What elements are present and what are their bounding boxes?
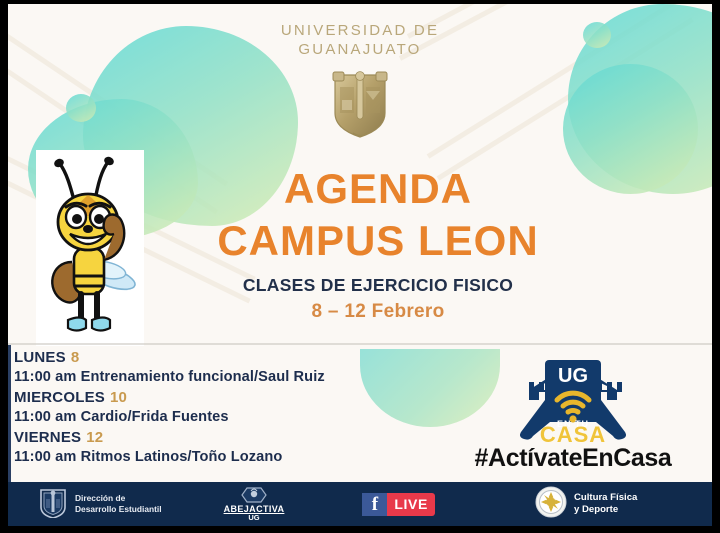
ug-coat-of-arms-shield-icon [329, 67, 391, 139]
university-name-line2: GUANAJUATO [8, 41, 712, 60]
footer-logo-cultura: Cultura Física y Deporte [535, 486, 637, 523]
fb-badge-group[interactable]: f LIVE [362, 493, 435, 516]
schedule-list: LUNES8 11:00 am Entrenamiento funcional/… [14, 348, 359, 468]
footer-abeja-sub: UG [224, 514, 285, 522]
left-accent-rule [8, 345, 11, 482]
poster-root: UNIVERSIDAD DE GUANAJUATO [0, 0, 720, 533]
facebook-live-badge[interactable]: f LIVE [362, 493, 435, 516]
schedule-day-number: 12 [86, 429, 103, 446]
footer-cultura-line2: y Deporte [574, 504, 618, 515]
schedule-day-detail: 11:00 am Ritmos Latinos/Toño Lozano [14, 448, 359, 467]
schedule-entry: MIERCOLES10 11:00 am Cardio/Frida Fuente… [14, 388, 359, 427]
schedule-day-name: MIERCOLES [14, 389, 105, 406]
title-campus: CAMPUS LEON [168, 216, 588, 266]
live-label[interactable]: LIVE [387, 493, 435, 516]
title-agenda: AGENDA [168, 166, 588, 212]
schedule-day-number: 10 [110, 389, 127, 406]
footer-dde-line2: Desarrollo Estudiantil [75, 504, 162, 514]
poster-subtitle: CLASES DE EJERCICIO FISICO [168, 275, 588, 296]
poster-canvas: UNIVERSIDAD DE GUANAJUATO [8, 4, 712, 526]
schedule-day-detail: 11:00 am Entrenamiento funcional/Saul Ru… [14, 368, 359, 387]
schedule-entry: VIERNES12 11:00 am Ritmos Latinos/Toño L… [14, 428, 359, 467]
footer-cultura-text: Cultura Física y Deporte [574, 492, 637, 517]
poster-titles: AGENDA CAMPUS LEON CLASES DE EJERCICIO F… [168, 166, 588, 323]
poster-date-range: 8 – 12 Febrero [168, 301, 588, 323]
bee-mascot-thumbs-up-icon [36, 150, 144, 346]
schedule-day-heading: VIERNES12 [14, 428, 359, 448]
cultura-fisica-seal-icon [535, 486, 567, 523]
schedule-day-detail: 11:00 am Cardio/Frida Fuentes [14, 408, 359, 427]
schedule-entry: LUNES8 11:00 am Entrenamiento funcional/… [14, 348, 359, 387]
schedule-day-name: VIERNES [14, 429, 81, 446]
section-divider [8, 343, 712, 345]
schedule-day-number: 8 [71, 349, 80, 366]
schedule-day-heading: LUNES8 [14, 348, 359, 368]
footer-dde-text: Dirección de Desarrollo Estudiantil [75, 493, 162, 516]
university-name-line1: UNIVERSIDAD DE [8, 22, 712, 41]
university-header: UNIVERSIDAD DE GUANAJUATO [8, 22, 712, 139]
schedule-day-name: LUNES [14, 349, 66, 366]
ug-seal-icon [38, 486, 68, 523]
footer-logo-dde: Dirección de Desarrollo Estudiantil [38, 486, 162, 523]
abeja-hex-badge-icon [224, 486, 285, 504]
footer-dde-line1: Dirección de [75, 493, 125, 503]
footer-bar: Dirección de Desarrollo Estudiantil ABEJ… [8, 482, 712, 526]
campaign-block: UG EN TU CASA #ActívateEnCasa [438, 356, 708, 473]
schedule-day-heading: MIERCOLES10 [14, 388, 359, 408]
footer-logo-abejactiva: ABEJACTIVA UG [224, 486, 285, 523]
footer-cultura-line1: Cultura Física [574, 492, 637, 503]
svg-text:UG: UG [558, 365, 588, 387]
campaign-hashtag: #ActívateEnCasa [438, 444, 708, 473]
ug-en-tu-casa-house-wifi-icon: UG EN TU CASA [509, 356, 637, 442]
facebook-f-icon[interactable]: f [362, 493, 387, 516]
svg-text:CASA: CASA [540, 422, 606, 442]
